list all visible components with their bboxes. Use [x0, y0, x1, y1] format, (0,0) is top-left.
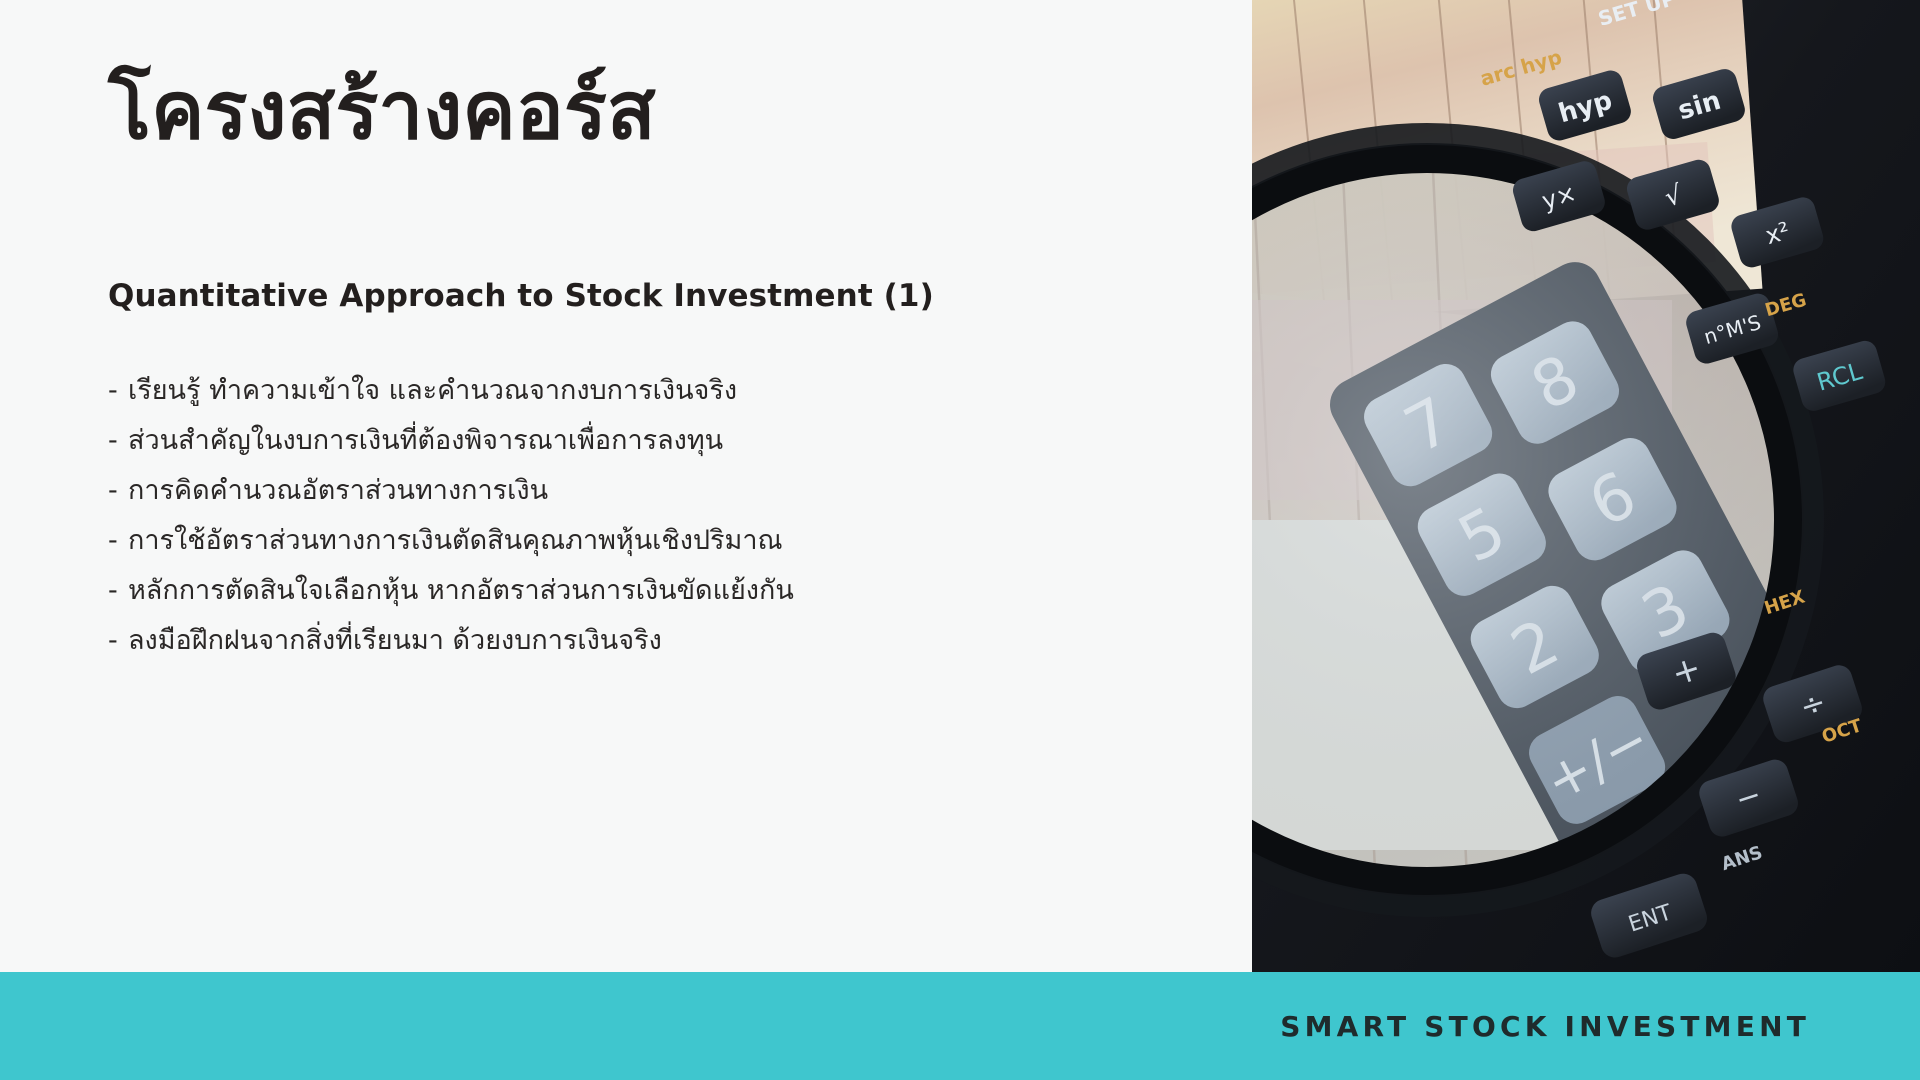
- bullet-dash-icon: -: [108, 516, 128, 566]
- list-item-label: การใช้อัตราส่วนทางการเงินตัดสินคุณภาพหุ้…: [128, 525, 783, 556]
- list-item-label: หลักการตัดสินใจเลือกหุ้น หากอัตราส่วนการ…: [128, 575, 794, 606]
- list-item: -การคิดคำนวณอัตราส่วนทางการเงิน: [108, 466, 1192, 516]
- calculator-photo: 7 8 5 2 6 3 +/−: [1252, 0, 1920, 972]
- bullet-dash-icon: -: [108, 616, 128, 666]
- list-item-label: ส่วนสำคัญในงบการเงินที่ต้องพิจารณาเพื่อก…: [128, 425, 723, 456]
- list-item-label: การคิดคำนวณอัตราส่วนทางการเงิน: [128, 475, 548, 506]
- presentation-slide: โครงสร้างคอร์ส Quantitative Approach to …: [0, 0, 1920, 1080]
- list-item: -หลักการตัดสินใจเลือกหุ้น หากอัตราส่วนกา…: [108, 566, 1192, 616]
- slide-content-area: โครงสร้างคอร์ส Quantitative Approach to …: [0, 0, 1252, 972]
- brand-label: SMART STOCK INVESTMENT: [1280, 1010, 1810, 1043]
- list-item: -เรียนรู้ ทำความเข้าใจ และคำนวณจากงบการเ…: [108, 366, 1192, 416]
- list-item-label: ลงมือฝึกฝนจากสิ่งที่เรียนมา ด้วยงบการเงิ…: [128, 625, 662, 656]
- bullet-dash-icon: -: [108, 416, 128, 466]
- bullet-dash-icon: -: [108, 466, 128, 516]
- photo-illustration: 7 8 5 2 6 3 +/−: [1252, 0, 1920, 972]
- slide-subtitle: Quantitative Approach to Stock Investmen…: [108, 278, 1192, 314]
- list-item-label: เรียนรู้ ทำความเข้าใจ และคำนวณจากงบการเง…: [128, 375, 737, 406]
- bullet-dash-icon: -: [108, 366, 128, 416]
- bullet-dash-icon: -: [108, 566, 128, 616]
- list-item: -ส่วนสำคัญในงบการเงินที่ต้องพิจารณาเพื่อ…: [108, 416, 1192, 466]
- list-item: -ลงมือฝึกฝนจากสิ่งที่เรียนมา ด้วยงบการเง…: [108, 616, 1192, 666]
- bullet-list: -เรียนรู้ ทำความเข้าใจ และคำนวณจากงบการเ…: [108, 366, 1192, 666]
- list-item: -การใช้อัตราส่วนทางการเงินตัดสินคุณภาพหุ…: [108, 516, 1192, 566]
- slide-title: โครงสร้างคอร์ส: [108, 62, 1192, 160]
- slide-footer: SMART STOCK INVESTMENT: [0, 972, 1920, 1080]
